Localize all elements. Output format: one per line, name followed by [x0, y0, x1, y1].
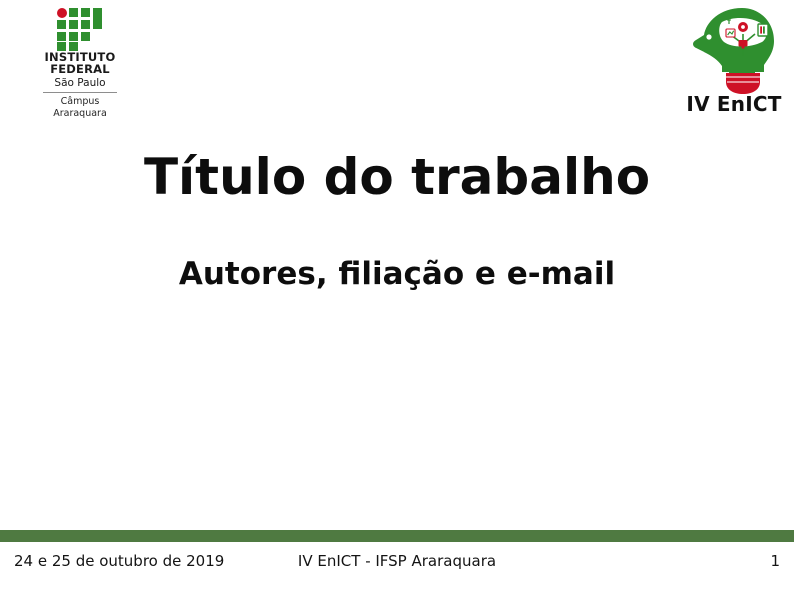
ifsp-red-dot: [57, 8, 67, 18]
ifsp-grid-cell: [81, 20, 90, 29]
ifsp-grid-cell: [69, 32, 78, 41]
footer-event: IV EnICT - IFSP Araraquara: [0, 552, 794, 570]
ifsp-logo-text: INSTITUTO FEDERAL São Paulo Câmpus Arara…: [32, 51, 128, 119]
ifsp-grid-cell: [57, 20, 66, 29]
ifsp-logo-mark: [57, 8, 103, 51]
ifsp-grid-cell: [81, 32, 90, 41]
ifsp-grid-cell: [69, 42, 78, 51]
gear-icon: [738, 22, 748, 32]
enict-logo-mark: [682, 4, 786, 94]
ifsp-divider: [43, 92, 117, 93]
ifsp-grid-cell: [57, 42, 66, 51]
title-block: Título do trabalho Autores, filiação e e…: [0, 148, 794, 292]
book-icon: [758, 24, 768, 36]
enict-caption: IV EnICT: [682, 93, 786, 115]
ifsp-grid-cell: [69, 20, 78, 29]
presentation-slide: INSTITUTO FEDERAL São Paulo Câmpus Arara…: [0, 0, 794, 597]
ifsp-grid-cell: [81, 8, 90, 17]
page-title: Título do trabalho: [0, 148, 794, 206]
ifsp-logo: INSTITUTO FEDERAL São Paulo Câmpus Arara…: [32, 2, 128, 114]
ifsp-line-federal: FEDERAL: [32, 63, 128, 75]
footer-accent-bar: [0, 530, 794, 542]
enict-bulb-head-icon: [682, 4, 786, 94]
chart-icon: [726, 29, 735, 37]
ifsp-grid-cell: [69, 8, 78, 17]
footer: 24 e 25 de outubro de 2019 IV EnICT - IF…: [0, 552, 794, 582]
ifsp-grid-bar: [93, 8, 102, 29]
ifsp-grid-cell: [57, 32, 66, 41]
ifsp-campus-name: Araraquara: [32, 108, 128, 120]
ifsp-state-label: São Paulo: [32, 75, 128, 90]
ifsp-campus-label: Câmpus: [32, 96, 128, 108]
enict-logo: IV EnICT: [682, 4, 786, 122]
page-subtitle: Autores, filiação e e-mail: [0, 256, 794, 292]
footer-page-number: 1: [770, 552, 780, 570]
